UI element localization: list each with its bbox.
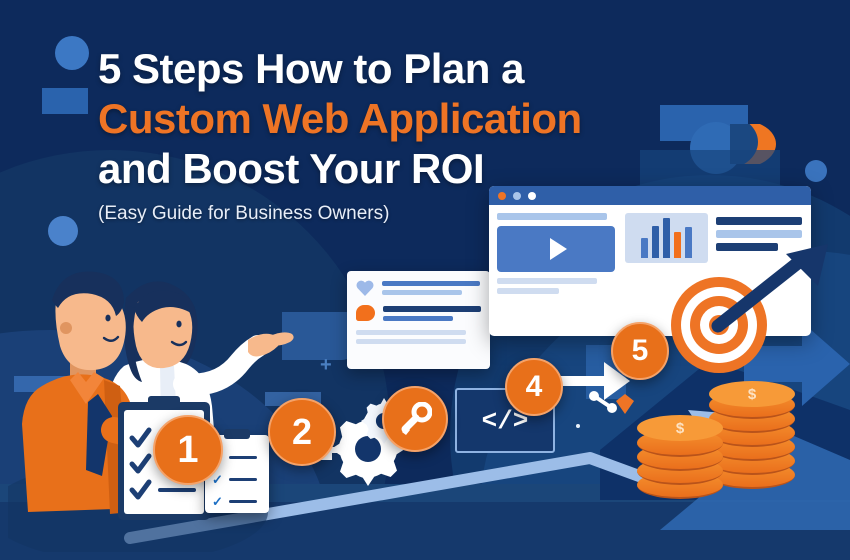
step-badge-4[interactable]: 4 [505, 358, 563, 416]
step-badge-2-label: 2 [292, 411, 312, 453]
clipboard-line [229, 456, 257, 459]
plus-decoration: + [320, 355, 332, 375]
background-circle-3 [805, 160, 827, 182]
browser-text-line-1 [497, 278, 597, 284]
step-badge-3-wrench[interactable] [382, 386, 448, 452]
step-badge-2[interactable]: 2 [268, 398, 336, 466]
clipboard-line [229, 500, 257, 503]
content-card-mockup [347, 271, 490, 369]
clipboard-clip [224, 429, 250, 439]
card-lines-1 [382, 281, 481, 295]
card-row-2 [356, 305, 481, 321]
browser-side-line-1 [716, 217, 802, 225]
step-badge-5[interactable]: 5 [611, 322, 669, 380]
headline-line-2: Custom Web Application [98, 94, 582, 144]
check-icon: ✓ [212, 495, 223, 508]
speech-bubble-icon [356, 305, 375, 321]
clipboard-row: ✓ [212, 495, 257, 508]
background-circle-1 [55, 36, 89, 70]
headline-line-3: and Boost Your ROI [98, 144, 582, 194]
bar-chart-widget [625, 213, 708, 263]
browser-side-line-2 [716, 230, 802, 238]
heart-icon [356, 280, 374, 296]
coin-face: $ [709, 381, 795, 407]
card-row-1 [356, 280, 481, 296]
card-lines-2 [383, 306, 481, 321]
browser-left-column [497, 213, 617, 320]
dollar-sign-icon: $ [676, 420, 684, 437]
clipboard-row: ✓ [212, 473, 257, 486]
bar-5 [685, 227, 692, 258]
banner-graphic: + 5 Steps How to Plan a Custom Web Appli… [0, 0, 850, 560]
coin-face: $ [637, 415, 723, 441]
step-badge-1[interactable]: 1 [153, 415, 223, 485]
background-circle-4 [48, 216, 78, 246]
headline-block: 5 Steps How to Plan a Custom Web Applica… [98, 44, 582, 225]
play-triangle-icon [550, 238, 567, 260]
bar-2 [652, 226, 659, 258]
bar-1 [641, 238, 648, 258]
dart-arrow-icon [700, 244, 830, 344]
bar-4 [674, 232, 681, 258]
dollar-sign-icon: $ [748, 386, 756, 403]
check-icon: ✓ [212, 473, 223, 486]
clipboard-line [229, 478, 257, 481]
headline-subtitle: (Easy Guide for Business Owners) [98, 203, 582, 225]
background-rect-1 [42, 88, 88, 114]
browser-text-line-2 [497, 288, 559, 294]
video-player-placeholder [497, 226, 615, 272]
step-badge-1-label: 1 [177, 429, 198, 472]
step-badge-4-label: 4 [526, 370, 543, 404]
card-footer-line-2 [356, 339, 466, 344]
headline-line-1: 5 Steps How to Plan a [98, 44, 582, 94]
card-footer-line-1 [356, 330, 466, 335]
step-badge-5-label: 5 [632, 334, 649, 368]
wrench-icon [398, 402, 432, 436]
bar-3 [663, 218, 670, 258]
coin-stack-left: $ [637, 415, 725, 515]
